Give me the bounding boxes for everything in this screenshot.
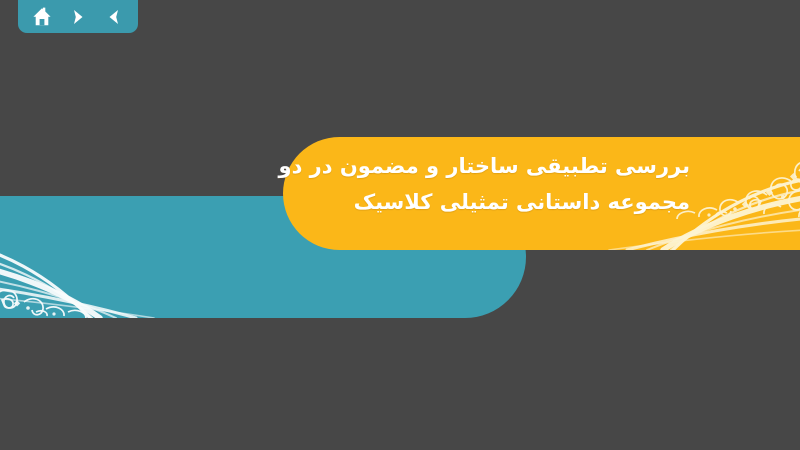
home-button[interactable] (29, 4, 55, 30)
slide-title: بررسی تطبیقی ساختار و مضمون در دو مجموعه… (260, 148, 690, 220)
forward-icon (68, 7, 88, 27)
title-line-1: بررسی تطبیقی ساختار و مضمون در دو (260, 148, 690, 184)
home-icon (31, 6, 53, 28)
title-line-2: مجموعه داستانی تمثیلی کلاسیک (260, 184, 690, 220)
back-icon (104, 7, 124, 27)
forward-button[interactable] (65, 4, 91, 30)
back-button[interactable] (101, 4, 127, 30)
presentation-slide: بررسی تطبیقی ساختار و مضمون در دو مجموعه… (0, 0, 800, 450)
arabesque-corner-ornament (0, 196, 170, 318)
navigation-bar (18, 0, 138, 33)
